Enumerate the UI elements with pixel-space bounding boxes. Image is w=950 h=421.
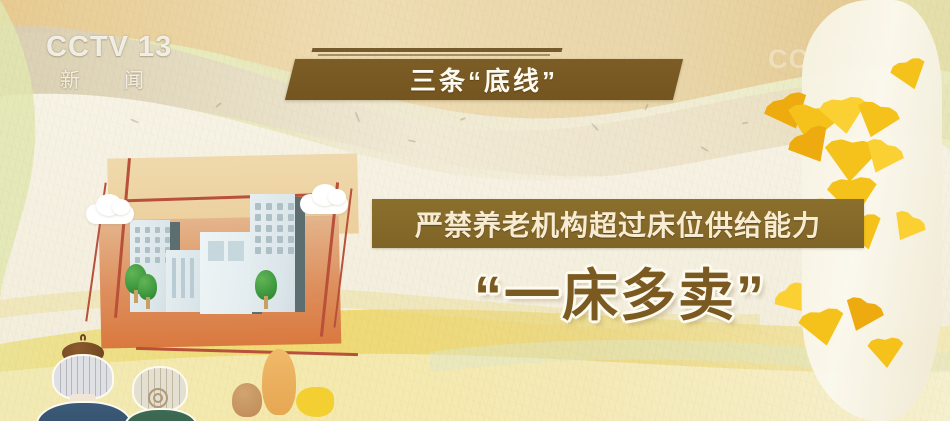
topic-banner: 三条“底线” (290, 48, 690, 102)
cap-knot-icon (80, 334, 86, 342)
building-windows (135, 227, 170, 263)
hair-strands (54, 356, 112, 398)
bush (262, 349, 296, 415)
subheadline-band: 严禁养老机构超过床位供给能力 (372, 199, 864, 248)
coat (124, 408, 198, 421)
subheadline-text: 严禁养老机构超过床位供给能力 (415, 204, 821, 244)
hair-bun-inner (153, 393, 163, 403)
bush (232, 383, 262, 417)
bush (296, 387, 334, 417)
elder-right-figure (124, 366, 210, 421)
banner-accent-line (312, 48, 563, 52)
coat (36, 401, 132, 421)
banner-accent-line-thin (318, 54, 550, 56)
banner-label: 三条“底线” (290, 59, 678, 100)
news-graphic-frame: CCTV 13 新 闻 CCTV com 央视网 三条“底线” (0, 0, 950, 421)
building-windows (255, 203, 294, 254)
